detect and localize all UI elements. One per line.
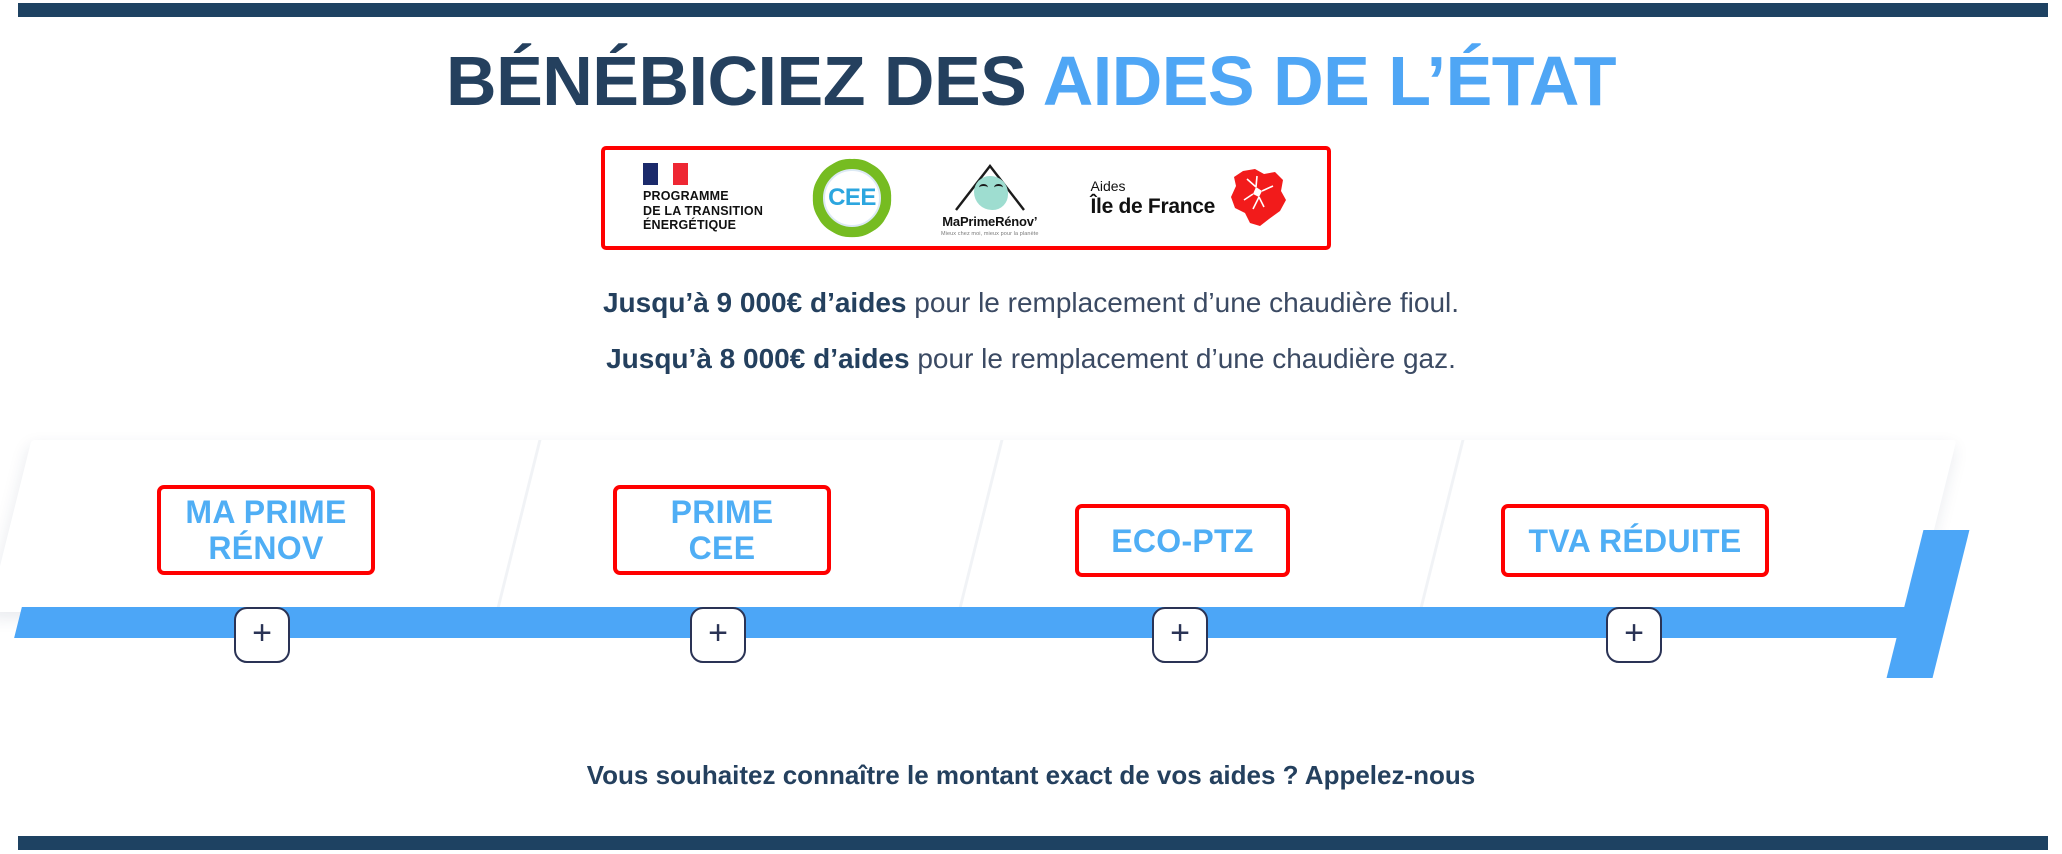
plus-icon: + (252, 616, 272, 650)
ile-de-france-map-icon (1223, 167, 1289, 229)
subtitle-fioul-rest: pour le remplacement d’une chaudière fio… (906, 287, 1459, 318)
logo-maprimerenov: MaPrimeRénov’ Mieux chez moi, mieux pour… (941, 160, 1039, 237)
expand-tva-reduite-button[interactable]: + (1606, 607, 1662, 663)
footer-cta-text: Vous souhaitez connaître le montant exac… (0, 760, 2062, 791)
aid-badge-3-line1: ECO-PTZ (1111, 523, 1254, 559)
promo-section: BÉNÉBICIEZ DES AIDES DE L’ÉTAT PROGRAMME… (0, 0, 2062, 854)
cee-badge-icon: CEE (815, 161, 889, 235)
maprimerenov-house-icon (948, 160, 1032, 212)
logo-idf-line2: Île de France (1091, 196, 1216, 217)
subtitle-fioul-amount: Jusqu’à 9 000€ d’aides (603, 287, 907, 318)
logo-cee-label: CEE (828, 184, 876, 212)
logo-idf-line1: Aides (1091, 179, 1216, 193)
aid-badge-1-line2: RÉNOV (208, 530, 323, 566)
logo-maprimerenov-tagline: Mieux chez moi, mieux pour la planète (941, 231, 1039, 237)
aid-badge-2-line1: PRIME (671, 494, 774, 530)
logo-pte-line1: PROGRAMME (643, 189, 763, 204)
logo-strip: PROGRAMME DE LA TRANSITION ÉNERGÉTIQUE C… (601, 146, 1331, 250)
logo-idf-text: Aides Île de France (1091, 179, 1216, 217)
logo-pte-text: PROGRAMME DE LA TRANSITION ÉNERGÉTIQUE (643, 189, 763, 233)
logo-maprimerenov-label: MaPrimeRénov’ (942, 214, 1037, 229)
logo-cee: CEE (815, 161, 889, 235)
plus-icon: + (1624, 616, 1644, 650)
aid-badge-4-line1: TVA RÉDUITE (1528, 523, 1741, 559)
aid-badge-eco-ptz[interactable]: ECO-PTZ (1075, 504, 1290, 577)
aid-badge-2-line2: CEE (689, 530, 756, 566)
logo-pte-line3: ÉNERGÉTIQUE (643, 218, 763, 233)
top-navy-rule (18, 3, 2048, 17)
subtitle-gaz-rest: pour le remplacement d’une chaudière gaz… (910, 343, 1456, 374)
expand-prime-cee-button[interactable]: + (690, 607, 746, 663)
aids-timeline: MA PRIME RÉNOV + PRIME CEE + ECO-PTZ + T… (0, 440, 2062, 660)
expand-ma-prime-renov-button[interactable]: + (234, 607, 290, 663)
expand-eco-ptz-button[interactable]: + (1152, 607, 1208, 663)
plus-icon: + (1170, 616, 1190, 650)
aid-badge-ma-prime-renov[interactable]: MA PRIME RÉNOV (157, 485, 375, 575)
page-title-part2: AIDES DE L’ÉTAT (1043, 42, 1616, 120)
subtitle-gaz: Jusqu’à 8 000€ d’aides pour le remplacem… (0, 343, 2062, 375)
logo-aides-ile-de-france: Aides Île de France (1091, 167, 1290, 229)
aid-badge-tva-reduite[interactable]: TVA RÉDUITE (1501, 504, 1769, 577)
page-title: BÉNÉBICIEZ DES AIDES DE L’ÉTAT (0, 44, 2062, 118)
bottom-navy-rule (18, 836, 2048, 850)
page-title-part1: BÉNÉBICIEZ DES (446, 42, 1043, 120)
plus-icon: + (708, 616, 728, 650)
logo-programme-transition-energetique: PROGRAMME DE LA TRANSITION ÉNERGÉTIQUE (643, 163, 763, 233)
logo-pte-line2: DE LA TRANSITION (643, 204, 763, 219)
subtitle-fioul: Jusqu’à 9 000€ d’aides pour le remplacem… (0, 287, 2062, 319)
subtitle-gaz-amount: Jusqu’à 8 000€ d’aides (606, 343, 910, 374)
french-flag-icon (643, 163, 689, 185)
aid-badge-1-line1: MA PRIME (185, 494, 346, 530)
aid-badge-prime-cee[interactable]: PRIME CEE (613, 485, 831, 575)
